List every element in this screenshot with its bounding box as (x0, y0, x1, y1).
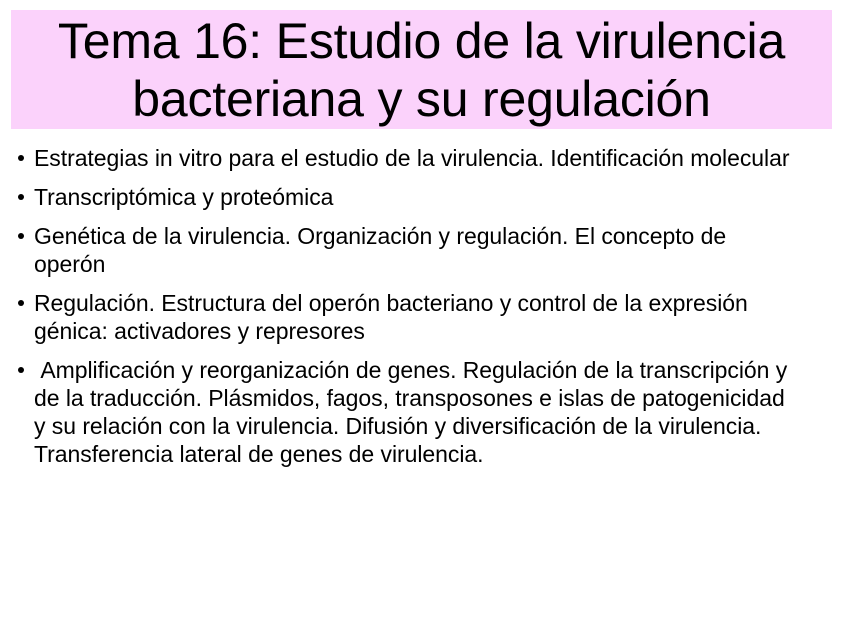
bullet-dot-icon (0, 222, 34, 250)
list-item-text: Estrategias in vitro para el estudio de … (34, 144, 794, 172)
list-item-text: Genética de la virulencia. Organización … (34, 222, 794, 278)
list-item-text: Transcriptómica y proteómica (34, 183, 794, 211)
list-item: Regulación. Estructura del operón bacter… (0, 289, 848, 345)
bullet-dot-icon (0, 144, 34, 172)
bullet-dot-icon (0, 356, 34, 384)
list-item: Estrategias in vitro para el estudio de … (0, 144, 848, 172)
title-band: Tema 16: Estudio de la virulencia bacter… (11, 10, 832, 129)
list-item: Genética de la virulencia. Organización … (0, 222, 848, 278)
list-item: Transcriptómica y proteómica (0, 183, 848, 211)
slide-title: Tema 16: Estudio de la virulencia bacter… (11, 12, 832, 128)
bullet-dot-icon (0, 289, 34, 317)
list-item-text: Amplificación y reorganización de genes.… (34, 356, 794, 468)
bullet-dot-icon (0, 183, 34, 211)
list-item-text: Regulación. Estructura del operón bacter… (34, 289, 794, 345)
slide-canvas: Tema 16: Estudio de la virulencia bacter… (0, 0, 848, 636)
list-item: Amplificación y reorganización de genes.… (0, 356, 848, 468)
slide-body-outline: Estrategias in vitro para el estudio de … (0, 144, 848, 479)
